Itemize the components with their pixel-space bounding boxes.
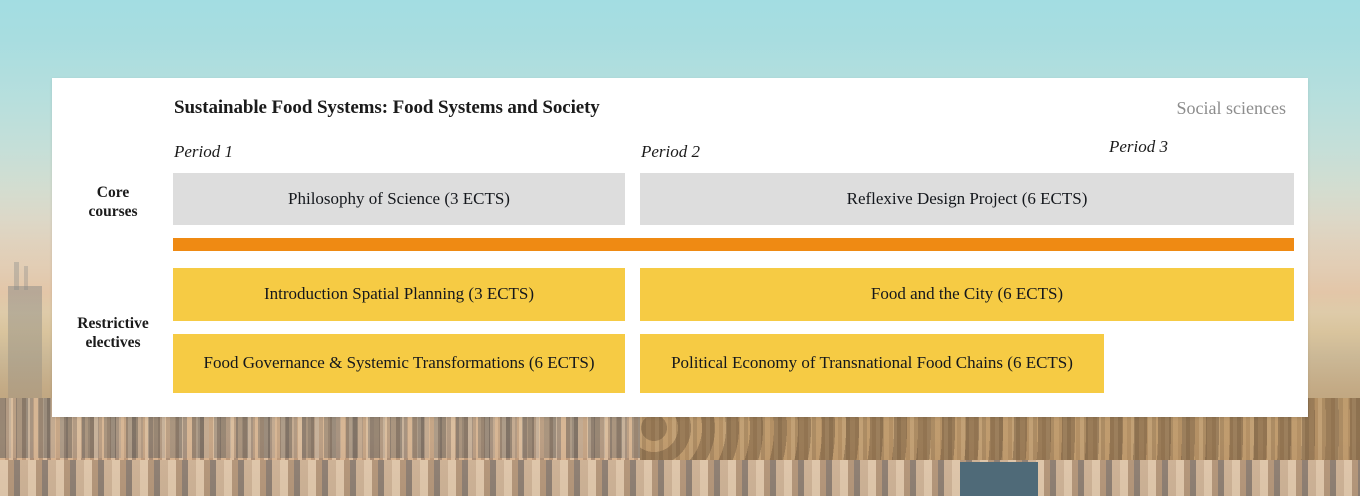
row-label-line: Core: [54, 183, 172, 202]
section-divider-bar: [173, 238, 1294, 251]
course-box-elective[interactable]: Introduction Spatial Planning (3 ECTS): [173, 268, 625, 321]
period-header-3: Period 3: [1109, 137, 1168, 157]
diagram-header: Sustainable Food Systems: Food Systems a…: [52, 78, 1308, 134]
period-header-1: Period 1: [174, 142, 233, 162]
course-box-core[interactable]: Reflexive Design Project (6 ECTS): [640, 173, 1294, 225]
curriculum-diagram-card: Sustainable Food Systems: Food Systems a…: [52, 78, 1308, 417]
row-label-line: courses: [54, 202, 172, 221]
background-antenna-icon: [14, 262, 19, 290]
row-label-core-courses: Core courses: [54, 183, 172, 222]
period-header-2: Period 2: [641, 142, 700, 162]
background-antenna-icon: [24, 266, 28, 290]
background-tower-icon: [8, 286, 42, 416]
row-label-restrictive-electives: Restrictive electives: [54, 314, 172, 353]
discipline-label: Social sciences: [1177, 98, 1286, 119]
row-label-line: electives: [54, 333, 172, 352]
background-city-foreground: [0, 460, 1360, 496]
row-label-line: Restrictive: [54, 314, 172, 333]
course-box-elective[interactable]: Political Economy of Transnational Food …: [640, 334, 1104, 393]
course-box-elective[interactable]: Food Governance & Systemic Transformatio…: [173, 334, 625, 393]
course-box-elective[interactable]: Food and the City (6 ECTS): [640, 268, 1294, 321]
course-box-core[interactable]: Philosophy of Science (3 ECTS): [173, 173, 625, 225]
page-title: Sustainable Food Systems: Food Systems a…: [174, 97, 600, 119]
background-building-blue: [960, 462, 1038, 496]
